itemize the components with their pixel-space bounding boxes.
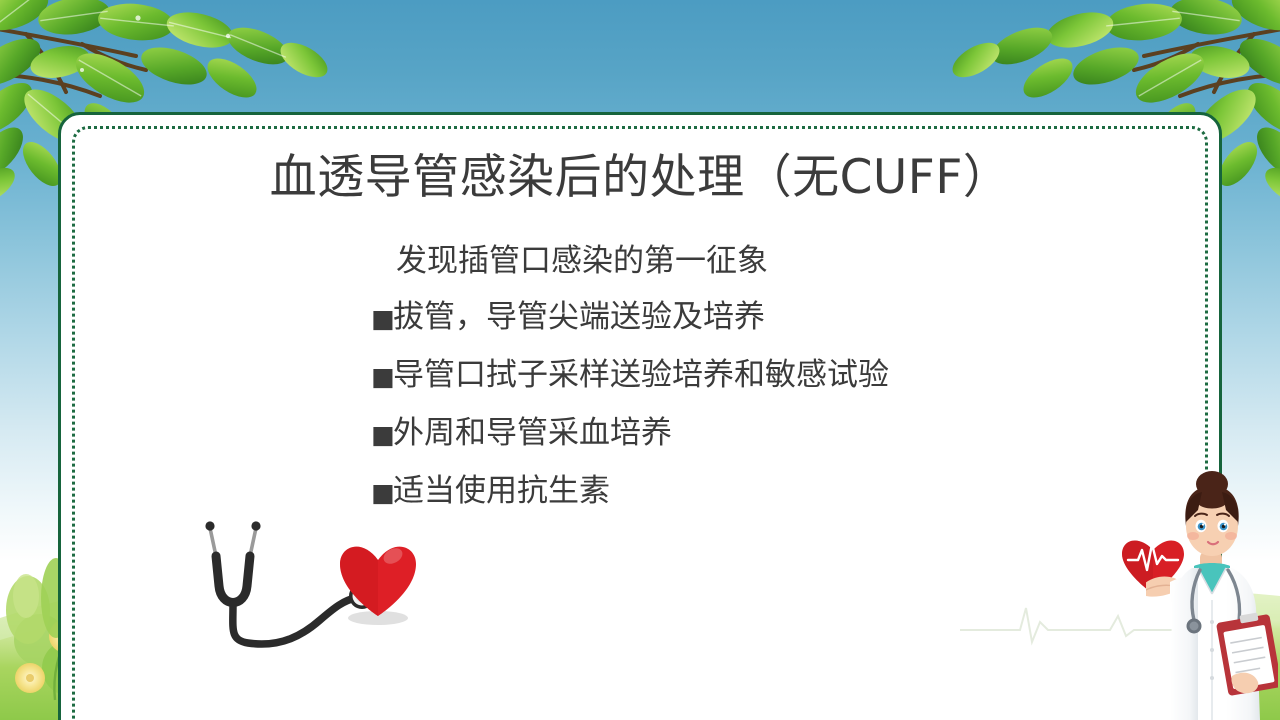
doctor-illustration (1146, 470, 1278, 720)
list-item-text: 外周和导管采血培养 (393, 405, 672, 461)
bullet-marker: ■ (371, 291, 393, 347)
list-item-text: 适当使用抗生素 (393, 463, 610, 519)
list-item: ■ 外周和导管采血培养 (371, 405, 1171, 463)
list-item: ■ 适当使用抗生素 (371, 463, 1171, 521)
list-item: ■ 拔管，导管尖端送验及培养 (371, 289, 1171, 347)
bullet-marker: ■ (371, 407, 393, 463)
bullet-list: 发现插管口感染的第一征象 ■ 拔管，导管尖端送验及培养 ■ 导管口拭子采样送验培… (371, 233, 1171, 521)
list-item-text: 发现插管口感染的第一征象 (393, 233, 768, 289)
list-item: ■ 导管口拭子采样送验培养和敏感试验 (371, 347, 1171, 405)
list-item-text: 拔管，导管尖端送验及培养 (393, 289, 765, 345)
list-item-text: 导管口拭子采样送验培养和敏感试验 (393, 347, 889, 403)
bullet-marker: ■ (371, 349, 393, 405)
stethoscope-icon (186, 512, 416, 657)
slide-title: 血透导管感染后的处理（无CUFF） (61, 149, 1219, 208)
list-item: 发现插管口感染的第一征象 (371, 233, 1171, 289)
slide-canvas: 血透导管感染后的处理（无CUFF） 发现插管口感染的第一征象 ■ 拔管，导管尖端… (0, 0, 1280, 720)
